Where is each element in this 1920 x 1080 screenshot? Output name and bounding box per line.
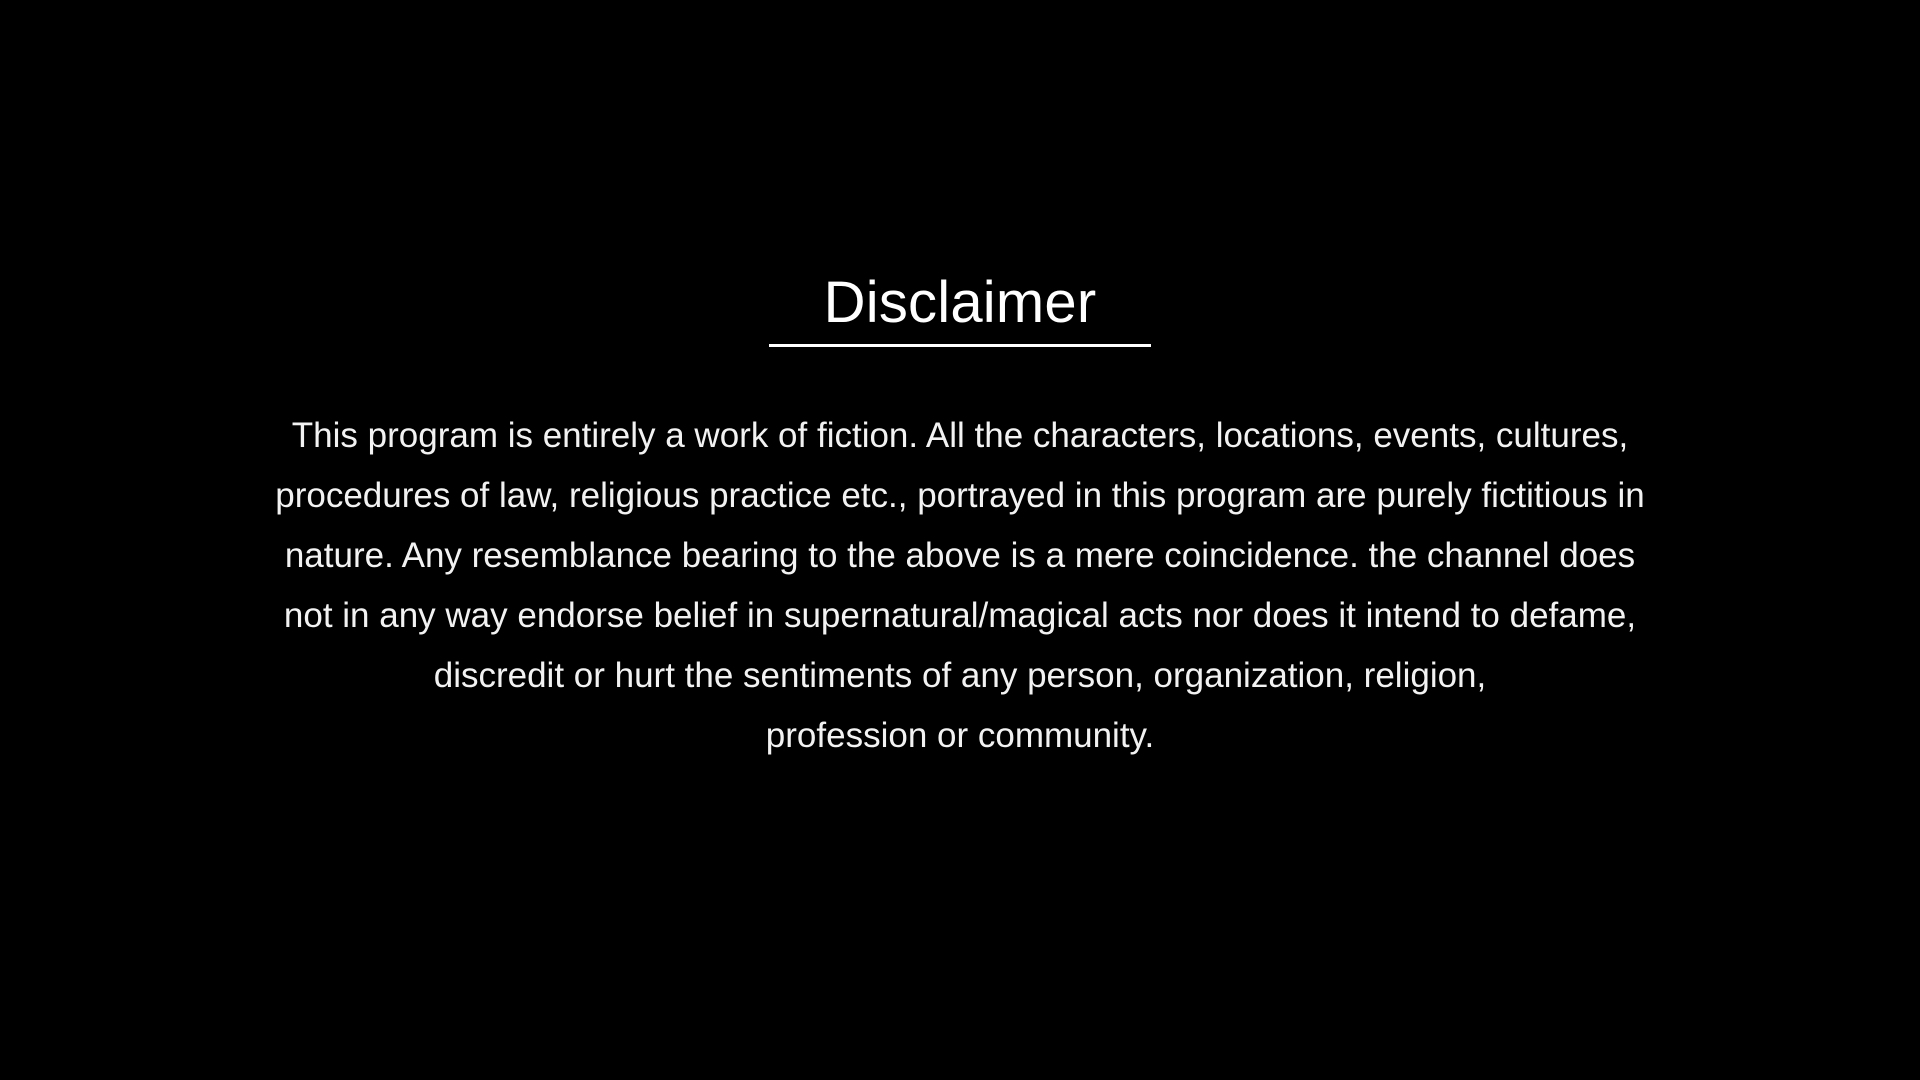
title-block: Disclaimer [0,272,1920,347]
disclaimer-line-6: profession or community. [130,706,1790,766]
page-title: Disclaimer [824,272,1097,335]
disclaimer-line-1: This program is entirely a work of ficti… [130,406,1790,466]
disclaimer-line-2: procedures of law, religious practice et… [130,466,1790,526]
title-underline-divider [769,344,1151,347]
disclaimer-line-5: discredit or hurt the sentiments of any … [130,646,1790,706]
disclaimer-slide: Disclaimer This program is entirely a wo… [0,0,1920,1080]
disclaimer-line-3: nature. Any resemblance bearing to the a… [130,526,1790,586]
disclaimer-text-block: This program is entirely a work of ficti… [130,406,1790,766]
disclaimer-line-4: not in any way endorse belief in superna… [130,586,1790,646]
